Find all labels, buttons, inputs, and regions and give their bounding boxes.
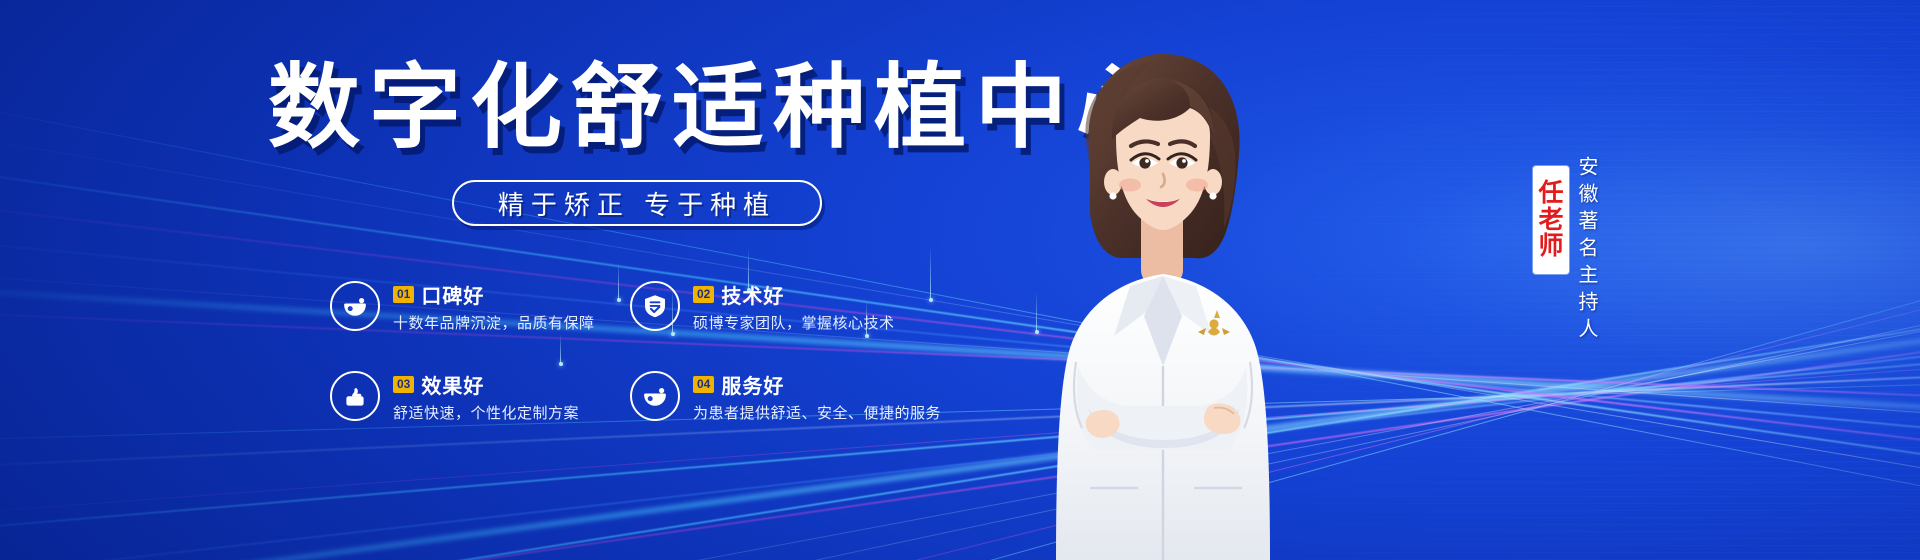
feature-text: 02 技术好 硕博专家团队，掌握核心技术 xyxy=(693,280,895,333)
feature-number: 02 xyxy=(693,286,714,303)
feature-title: 效果好 xyxy=(421,370,484,399)
smile-icon xyxy=(330,281,380,331)
feature-desc: 舒适快速，个性化定制方案 xyxy=(393,402,579,423)
feature-desc: 十数年品牌沉淀，品质有保障 xyxy=(393,312,595,333)
feature-number: 04 xyxy=(693,376,714,393)
endorsement-vertical-text: 安徽著名主持人 xyxy=(1576,156,1596,345)
feature-title: 技术好 xyxy=(721,280,784,309)
subtitle-text: 精于矫正 专于种植 xyxy=(498,185,776,222)
feature-text: 03 效果好 舒适快速，个性化定制方案 xyxy=(393,370,579,423)
feature-head: 01 口碑好 xyxy=(393,280,595,309)
feature-item-01[interactable]: 01 口碑好 十数年品牌沉淀，品质有保障 xyxy=(330,266,630,346)
feature-head: 03 效果好 xyxy=(393,370,579,399)
seal-char: 师 xyxy=(1538,233,1563,260)
feature-number: 03 xyxy=(393,376,414,393)
feature-text: 01 口碑好 十数年品牌沉淀，品质有保障 xyxy=(393,280,595,333)
doctor-illustration xyxy=(1018,36,1308,560)
page-title: 数字化舒适种植中心 xyxy=(268,62,1008,154)
feature-text: 04 服务好 为患者提供舒适、安全、便捷的服务 xyxy=(693,370,941,423)
feature-desc: 为患者提供舒适、安全、便捷的服务 xyxy=(693,402,941,423)
feature-list: 01 口碑好 十数年品牌沉淀，品质有保障 02 技术好 xyxy=(330,266,1070,436)
feature-item-02[interactable]: 02 技术好 硕博专家团队，掌握核心技术 xyxy=(630,266,1010,346)
seal-char: 任 xyxy=(1538,180,1563,207)
feature-number: 01 xyxy=(393,286,414,303)
thumbs-up-icon xyxy=(330,371,380,421)
subtitle-pill: 精于矫正 专于种植 xyxy=(452,180,822,226)
seal-char: 老 xyxy=(1538,207,1563,234)
feature-title: 服务好 xyxy=(721,370,784,399)
shield-check-icon xyxy=(630,281,680,331)
feature-title: 口碑好 xyxy=(421,280,484,309)
feature-item-04[interactable]: 04 服务好 为患者提供舒适、安全、便捷的服务 xyxy=(630,356,1010,436)
smile-icon xyxy=(630,371,680,421)
name-seal: 任 老 师 xyxy=(1533,166,1569,274)
feature-head: 04 服务好 xyxy=(693,370,941,399)
feature-desc: 硕博专家团队，掌握核心技术 xyxy=(693,312,895,333)
feature-item-03[interactable]: 03 效果好 舒适快速，个性化定制方案 xyxy=(330,356,630,436)
feature-head: 02 技术好 xyxy=(693,280,895,309)
promo-banner: 数字化舒适种植中心 精于矫正 专于种植 01 口碑好 十数年品牌沉淀，品质有保障 xyxy=(0,0,1920,560)
